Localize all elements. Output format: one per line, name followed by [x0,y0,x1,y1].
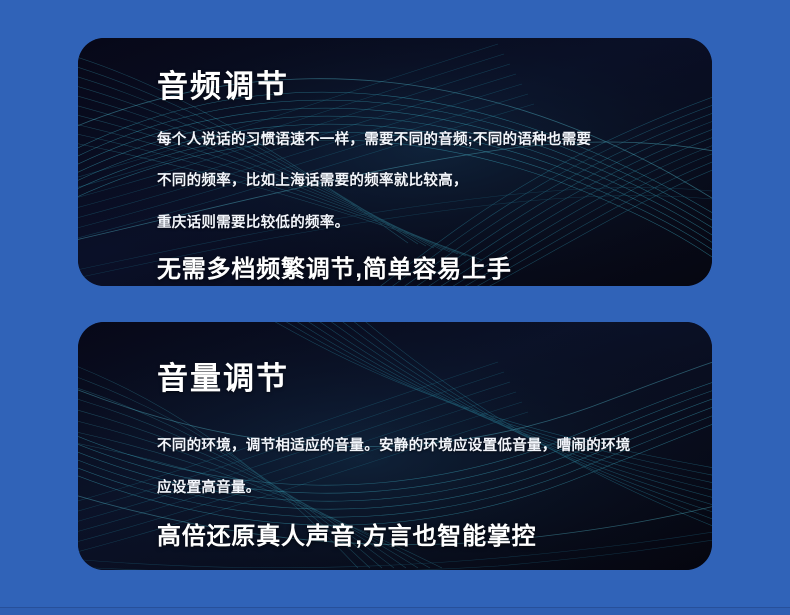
promo-page: 音频调节 每个人说话的习惯语速不一样，需要不同的音频;不同的语种也需要 不同的频… [0,0,790,615]
feature-card-volume: 音量调节 不同的环境，调节相适应的音量。安静的环境应设置低音量，嘈闹的环境 应设… [78,322,712,570]
card-content: 音量调节 不同的环境，调节相适应的音量。安静的环境应设置低音量，嘈闹的环境 应设… [78,322,712,570]
card-body-line: 重庆话则需要比较低的频率。 [157,216,712,231]
card-body-line: 应设置高音量。 [157,481,712,496]
feature-card-audio-frequency: 音频调节 每个人说话的习惯语速不一样，需要不同的音频;不同的语种也需要 不同的频… [78,38,712,286]
card-body-line: 不同的频率，比如上海话需要的频率就比较高， [157,174,712,189]
card-title: 音量调节 [157,360,712,399]
card-title: 音频调节 [157,68,712,107]
card-body-line: 不同的环境，调节相适应的音量。安静的环境应设置低音量，嘈闹的环境 [157,439,712,454]
card-highlight: 无需多档频繁调节,简单容易上手 [157,257,712,283]
card-body: 不同的环境，调节相适应的音量。安静的环境应设置低音量，嘈闹的环境 应设置高音量。 [157,439,712,496]
card-highlight: 高倍还原真人声音,方言也智能掌控 [157,524,712,550]
card-body-line: 每个人说话的习惯语速不一样，需要不同的音频;不同的语种也需要 [157,133,712,148]
card-content: 音频调节 每个人说话的习惯语速不一样，需要不同的音频;不同的语种也需要 不同的频… [78,38,712,286]
card-body: 每个人说话的习惯语速不一样，需要不同的音频;不同的语种也需要 不同的频率，比如上… [157,133,712,231]
page-bottom-divider [0,607,790,615]
